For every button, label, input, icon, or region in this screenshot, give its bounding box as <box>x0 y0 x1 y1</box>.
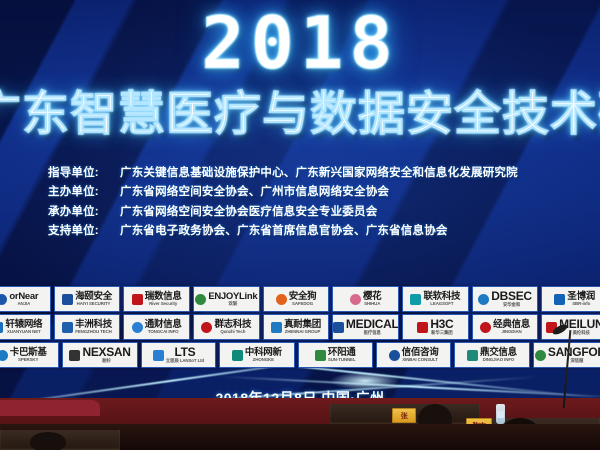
organizer-value: 广东省网络空间安全协会医疗信息安全专业委员会 <box>120 203 588 222</box>
sponsor-name-en: JINGDIAN <box>501 330 521 335</box>
sponsor-mark-icon <box>350 294 361 305</box>
sponsor-logo: 中科网新ZHONGKE <box>219 342 294 368</box>
sponsor-logo: 真耐集团ZHENNAI GROUP <box>263 314 330 340</box>
organizer-label: 主办单位: <box>48 183 120 202</box>
sponsor-name-en: XUANYUAN NET <box>7 330 41 335</box>
sponsor-mark-icon <box>195 294 206 305</box>
sponsor-logo: 安全狗SAFEDOG <box>263 286 330 312</box>
sponsor-name-en: ZHENNAI GROUP <box>285 330 321 335</box>
sponsor-mark-icon <box>153 350 164 361</box>
sponsor-mark-icon <box>271 322 282 333</box>
sponsor-row-2: 轩辕网络XUANYUAN NET丰洲科技FENGZHOU TECH通财信息TON… <box>0 314 600 340</box>
sponsor-logo: 轩辕网络XUANYUAN NET <box>0 314 51 340</box>
organizer-row: 支持单位: 广东省电子政务协会、广东省首席信息官协会、广东省信息协会 <box>48 222 588 241</box>
sponsor-logo: MEDICAL医疗信息 <box>332 314 399 340</box>
organizer-label: 承办单位: <box>48 203 120 222</box>
sponsor-name-en: ANJIA <box>17 302 30 307</box>
banner-year: 2018 <box>0 4 600 82</box>
sponsor-mark-icon <box>480 322 491 333</box>
sponsor-name-en: 欢联 <box>229 302 238 307</box>
sponsor-mark-icon <box>201 322 212 333</box>
sponsor-name-en: ZHONGKE <box>253 358 274 363</box>
sponsor-name-en: TONGCAI INFO <box>148 330 179 335</box>
sponsor-name-en: XINBAI CONSULT <box>402 358 438 363</box>
audience-head <box>30 432 66 450</box>
sponsor-mark-icon <box>232 350 243 361</box>
sponsor-name-en: 新华三集团 <box>431 331 452 336</box>
sponsor-logo: orNearANJIA <box>0 286 51 312</box>
organizer-block: 指导单位: 广东关键信息基础设施保护中心、广东新兴国家网络安全和信息化发展研究院… <box>48 164 588 242</box>
sponsor-mark-icon <box>535 350 546 361</box>
sponsor-mark-icon <box>132 294 143 305</box>
organizer-label: 支持单位: <box>48 222 120 241</box>
organizer-value: 广东关键信息基础设施保护中心、广东新兴国家网络安全和信息化发展研究院 <box>120 164 588 183</box>
sponsor-mark-icon <box>276 294 287 305</box>
sponsor-logo: 丰洲科技FENGZHOU TECH <box>54 314 121 340</box>
sponsor-logo: H3C新华三集团 <box>402 314 469 340</box>
sponsor-name-en: DINGJIAO INFO <box>483 358 515 363</box>
sponsor-logo: 鼎交信息DINGJIAO INFO <box>454 342 529 368</box>
organizer-row: 指导单位: 广东关键信息基础设施保护中心、广东新兴国家网络安全和信息化发展研究院 <box>48 164 588 183</box>
organizer-label: 指导单位: <box>48 164 120 183</box>
organizer-value: 广东省网络空间安全协会、广州市信息网络安全协会 <box>120 183 588 202</box>
sponsor-name-en: SAFEDOG <box>292 302 313 307</box>
water-bottle <box>496 404 505 424</box>
sponsor-logo: 经典信息JINGDIAN <box>472 314 539 340</box>
sponsor-logo: 联软科技LEAGSOFT <box>402 286 469 312</box>
sponsor-logo: 卡巴斯基SPERSKY <box>0 342 59 368</box>
sponsor-logo: 通财信息TONGCAI INFO <box>123 314 190 340</box>
organizer-row: 承办单位: 广东省网络空间安全协会医疗信息安全专业委员会 <box>48 203 588 222</box>
sponsor-name-en: LEAGSOFT <box>430 302 453 307</box>
conference-stage-photo: 2018 广东智慧医疗与数据安全技术研讨 指导单位: 广东关键信息基础设施保护中… <box>0 0 600 450</box>
sponsor-mark-icon <box>417 322 428 333</box>
sponsor-logo: 瑞数信息River Security <box>123 286 190 312</box>
banner-title: 广东智慧医疗与数据安全技术研讨 <box>0 86 600 142</box>
sponsor-logo: 信佰咨询XINBAI CONSULT <box>376 342 451 368</box>
sponsor-name-en: Qunzhi Tech <box>220 330 245 335</box>
name-card-text: 张 <box>401 411 408 421</box>
sponsor-logo: DBSEC安华金和 <box>472 286 539 312</box>
sponsor-logo: NEXSAN耐杉 <box>62 342 137 368</box>
sponsor-logo: 圣博润SBR-info <box>541 286 600 312</box>
sponsor-logo: 环阳通SUN-TUNNEL <box>298 342 373 368</box>
sponsor-row-3: 卡巴斯基SPERSKYNEXSAN耐杉LTS立思辰 LANSoT Ltd中科网新… <box>0 342 600 368</box>
sponsor-name-en: SBR-info <box>572 302 590 307</box>
organizer-value: 广东省电子政务协会、广东省首席信息官协会、广东省信息协会 <box>120 222 588 241</box>
sponsor-mark-icon <box>62 294 73 305</box>
sponsor-name-en: FENGZHOU TECH <box>75 330 112 335</box>
sponsor-mark-icon <box>0 322 3 333</box>
sponsor-mark-icon <box>69 350 80 361</box>
sponsor-mark-icon <box>132 322 143 333</box>
sponsor-logo: 群志科技Qunzhi Tech <box>193 314 260 340</box>
sponsor-logo: LTS立思辰 LANSoT Ltd <box>141 342 216 368</box>
sponsor-name-en: River Security <box>149 302 177 307</box>
name-card: 张 <box>392 408 416 423</box>
sponsor-name-en: SHIHUA <box>364 302 380 307</box>
sponsor-row-1: orNearANJIA海颐安全HAIYI SECURITY瑞数信息River S… <box>0 286 600 312</box>
stage-wall-left <box>0 400 100 416</box>
sponsor-mark-icon <box>410 294 421 305</box>
sponsor-mark-icon <box>62 322 73 333</box>
sponsor-name-en: 安华金和 <box>503 303 520 308</box>
sponsor-name-en: SPERSKY <box>18 358 38 363</box>
sponsor-name-en: 深信服 <box>570 359 583 364</box>
sponsor-logo: ENJOYLink欢联 <box>193 286 260 312</box>
sponsor-mark-icon <box>315 350 326 361</box>
sponsor-mark-icon <box>389 350 400 361</box>
sponsor-name-en: 医疗信息 <box>364 331 381 336</box>
sponsor-name-en: SUN-TUNNEL <box>328 358 356 363</box>
sponsor-name-en: 美伦科技 <box>573 331 590 336</box>
sponsor-mark-icon <box>478 294 489 305</box>
organizer-row: 主办单位: 广东省网络空间安全协会、广州市信息网络安全协会 <box>48 183 588 202</box>
sponsor-mark-icon <box>0 350 8 361</box>
sponsor-mark-icon <box>333 322 344 333</box>
sponsor-name-en: 耐杉 <box>102 359 111 364</box>
sponsor-logo: 樱花SHIHUA <box>332 286 399 312</box>
sponsor-logo: 海颐安全HAIYI SECURITY <box>54 286 121 312</box>
sponsor-mark-icon <box>554 294 565 305</box>
sponsor-name-en: HAIYI SECURITY <box>77 302 111 307</box>
sponsor-logo-grid: orNearANJIA海颐安全HAIYI SECURITY瑞数信息River S… <box>0 286 600 370</box>
sponsor-mark-icon <box>0 294 7 305</box>
sponsor-name-en: 立思辰 LANSoT Ltd <box>166 359 204 364</box>
sponsor-mark-icon <box>467 350 478 361</box>
